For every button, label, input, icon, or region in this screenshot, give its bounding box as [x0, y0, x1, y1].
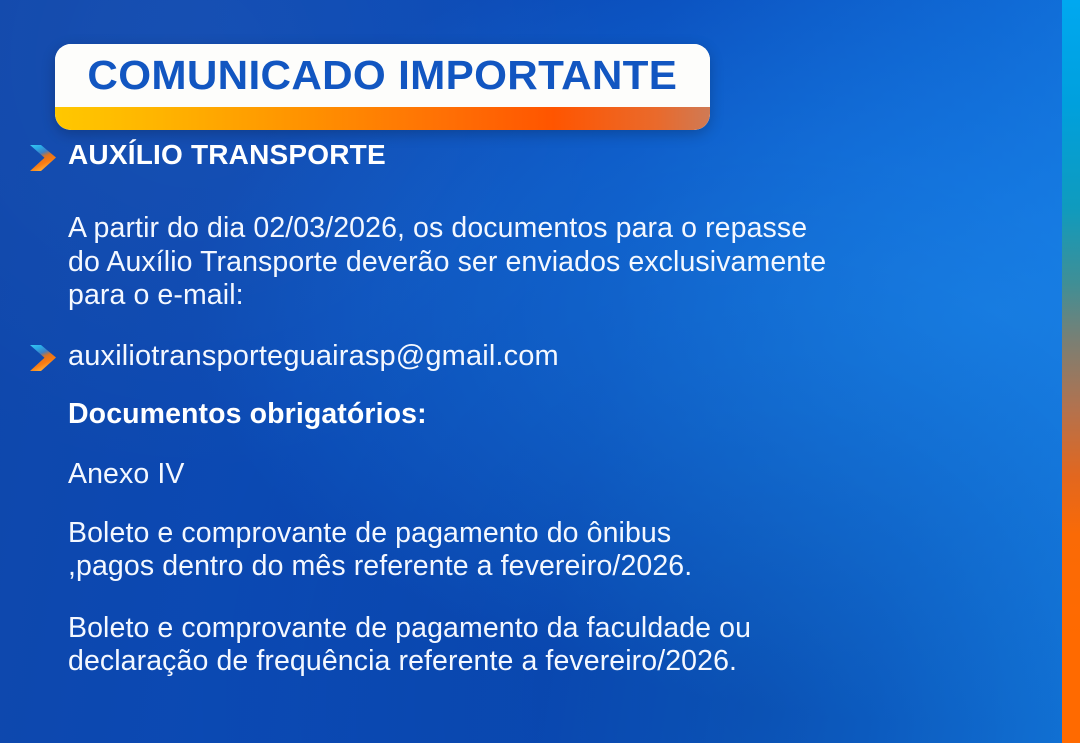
document-item-2: Boleto e comprovante de pagamento do ôni…	[0, 517, 1062, 584]
chevron-right-icon	[26, 142, 60, 174]
section-heading-row: AUXÍLIO TRANSPORTE	[0, 140, 1062, 170]
spacer	[0, 584, 1062, 612]
spacer	[0, 432, 1062, 458]
announcement-body: AUXÍLIO TRANSPORTE A partir do dia 02/03…	[0, 140, 1062, 678]
document-2-line-2: ,pagos dentro do mês referente a feverei…	[68, 550, 1062, 583]
spacer	[0, 170, 1062, 212]
document-3-line-2: declaração de frequência referente a fev…	[68, 645, 1062, 678]
intro-line-2: do Auxílio Transporte deverão ser enviad…	[68, 246, 1062, 279]
announcement-poster: COMUNICADO IMPORTANTE	[0, 0, 1080, 743]
spacer	[0, 374, 1062, 398]
document-item-3: Boleto e comprovante de pagamento da fac…	[0, 612, 1062, 679]
spacer	[0, 312, 1062, 340]
document-3-line-1: Boleto e comprovante de pagamento da fac…	[68, 612, 1062, 645]
document-1-text: Anexo IV	[68, 458, 1062, 491]
right-edge-gradient-strip	[1062, 0, 1080, 743]
email-row[interactable]: auxiliotransporteguairasp@gmail.com	[0, 340, 1062, 374]
chevron-right-icon	[26, 342, 60, 374]
document-2-line-1: Boleto e comprovante de pagamento do ôni…	[68, 517, 1062, 550]
intro-line-1: A partir do dia 02/03/2026, os documento…	[68, 212, 1062, 245]
document-item-1: Anexo IV	[0, 458, 1062, 491]
documents-heading-row: Documentos obrigatórios:	[0, 398, 1062, 431]
intro-line-3: para o e-mail:	[68, 279, 1062, 312]
contact-email[interactable]: auxiliotransporteguairasp@gmail.com	[68, 340, 1062, 374]
section-heading: AUXÍLIO TRANSPORTE	[68, 140, 1062, 170]
intro-paragraph: A partir do dia 02/03/2026, os documento…	[0, 212, 1062, 312]
header-banner-face: COMUNICADO IMPORTANTE	[55, 44, 710, 107]
spacer	[0, 491, 1062, 517]
page-title: COMUNICADO IMPORTANTE	[88, 52, 678, 99]
header-banner: COMUNICADO IMPORTANTE	[55, 44, 710, 130]
documents-heading: Documentos obrigatórios:	[68, 398, 1062, 431]
header-banner-gradient-underline	[55, 107, 710, 130]
